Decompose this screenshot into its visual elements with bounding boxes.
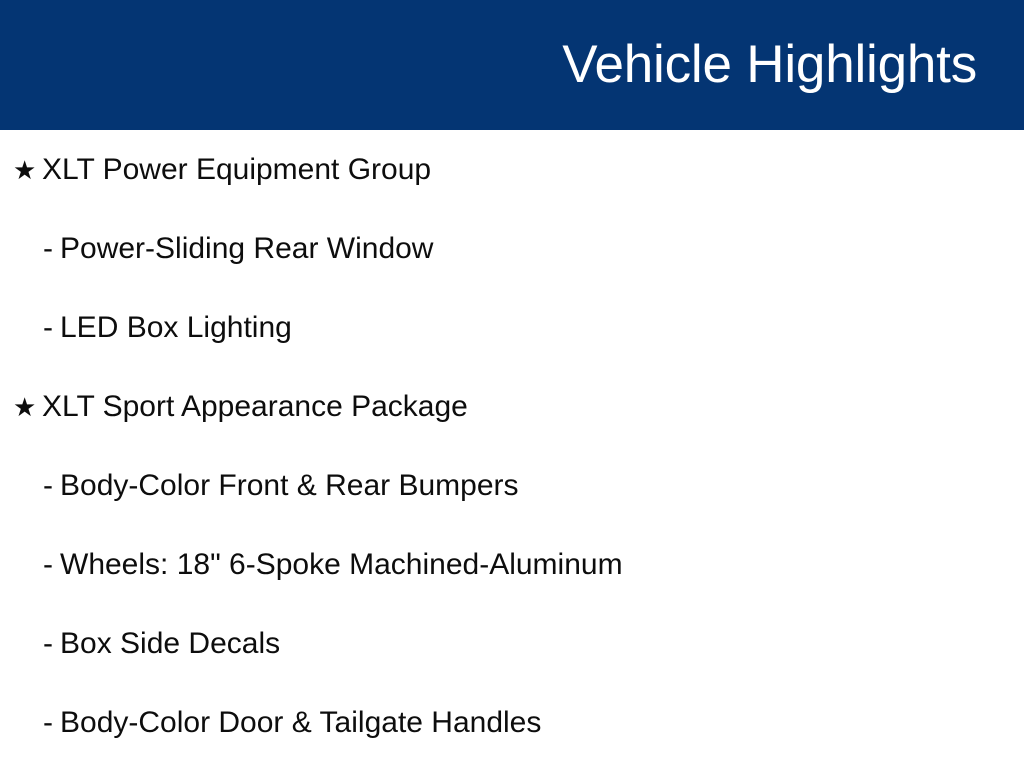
list-item: - Wheels: 18" 6-Spoke Machined-Aluminum (0, 525, 1024, 604)
list-item: - Box Side Decals (0, 604, 1024, 683)
page-title: Vehicle Highlights (562, 37, 977, 93)
dash-bullet-icon: - (43, 234, 60, 264)
star-bullet-icon: ★ (13, 157, 42, 183)
list-item: - Body-Color Front & Rear Bumpers (0, 446, 1024, 525)
list-item-label: Body-Color Door & Tailgate Handles (60, 705, 541, 741)
list-item-label: Wheels: 18" 6-Spoke Machined-Aluminum (60, 547, 623, 583)
dash-bullet-icon: - (43, 471, 60, 501)
list-item-label: XLT Sport Appearance Package (42, 389, 468, 425)
slide-title-banner: Vehicle Highlights (0, 0, 1024, 130)
list-item-label: XLT Power Equipment Group (42, 152, 431, 188)
dash-bullet-icon: - (43, 550, 60, 580)
dash-bullet-icon: - (43, 313, 60, 343)
list-item-label: Power-Sliding Rear Window (60, 231, 433, 267)
list-item-label: Body-Color Front & Rear Bumpers (60, 468, 519, 504)
vehicle-highlights-list: ★ XLT Power Equipment Group - Power-Slid… (0, 130, 1024, 762)
slide-body: ★ XLT Power Equipment Group - Power-Slid… (0, 130, 1024, 768)
list-item-label: Box Side Decals (60, 626, 280, 662)
star-bullet-icon: ★ (13, 394, 42, 420)
list-item: - Power-Sliding Rear Window (0, 209, 1024, 288)
dash-bullet-icon: - (43, 629, 60, 659)
list-item-label: LED Box Lighting (60, 310, 292, 346)
list-item: - Body-Color Door & Tailgate Handles (0, 683, 1024, 762)
list-item: - LED Box Lighting (0, 288, 1024, 367)
dash-bullet-icon: - (43, 708, 60, 738)
presentation-slide: Vehicle Highlights ★ XLT Power Equipment… (0, 0, 1024, 768)
list-item: ★ XLT Sport Appearance Package (0, 367, 1024, 446)
list-item: ★ XLT Power Equipment Group (0, 130, 1024, 209)
